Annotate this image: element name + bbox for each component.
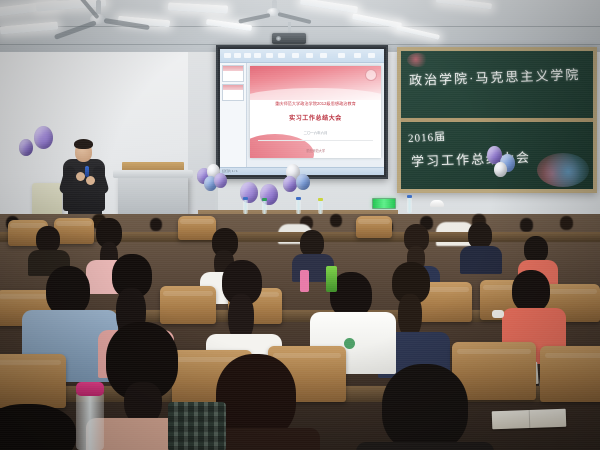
water-bottle [318, 201, 323, 214]
slide-counter: 幻灯片 1 / 1 [222, 169, 238, 173]
pink-item [300, 270, 309, 292]
powerpoint-ribbon[interactable] [220, 49, 384, 63]
bottle-cap [296, 197, 301, 200]
slide-thumbnail-panel[interactable] [220, 63, 247, 167]
balloon [296, 174, 310, 190]
slide-banner [250, 66, 381, 100]
slide-organization: 重庆师范大学 [254, 148, 377, 153]
slide-divider [258, 140, 373, 141]
slide-corner-decoration [250, 134, 314, 158]
bottle-cap [243, 197, 248, 200]
seat [540, 346, 600, 402]
blackboard-heading: 政治学院·马克思主义学院 [409, 64, 581, 89]
green-bottle [326, 266, 337, 292]
slide-thumbnail[interactable] [222, 65, 244, 82]
speaker-hand-right [86, 176, 95, 185]
powerpoint-window: 重庆师范大学政治学院2012级思想政治教育 实习工作总结大会 二〇一六年六月 重… [220, 49, 384, 175]
chalk-rose-decoration [407, 53, 429, 67]
seat [0, 354, 66, 408]
bottle-cap [407, 195, 412, 198]
ceiling-fan-blade [278, 12, 312, 24]
water-bottle [262, 201, 267, 214]
slide-title-line2: 实习工作总结大会 [254, 113, 377, 122]
bottle-cap [262, 198, 267, 201]
ceiling-fan-blade [238, 13, 270, 24]
bottle-cap-foreground [76, 382, 104, 396]
water-bottle [243, 200, 248, 214]
projection-screen: 重庆师范大学政治学院2012级思想政治教育 实习工作总结大会 二〇一六年六月 重… [216, 45, 388, 179]
podium-top-surface [113, 170, 193, 178]
speaker-hair [74, 139, 93, 149]
lecture-hall-photo: 重庆师范大学政治学院2012级思想政治教育 实习工作总结大会 二〇一六年六月 重… [0, 0, 600, 450]
wristwatch [492, 310, 504, 318]
slide-stage: 重庆师范大学政治学院2012级思想政治教育 实习工作总结大会 二〇一六年六月 重… [247, 63, 384, 167]
plaid-bag [168, 402, 226, 450]
speaker-hand-left [76, 172, 85, 181]
seat [356, 216, 392, 238]
ceiling-light [300, 0, 358, 13]
emergency-exit-sign [372, 198, 396, 209]
ceiling-light [436, 0, 492, 9]
balloon [214, 173, 227, 188]
balloon [19, 139, 33, 156]
slide-date: 二〇一六年六月 [254, 130, 377, 135]
ceiling-fan-blade [54, 20, 97, 40]
balloon [494, 162, 507, 177]
water-bottle-foreground [76, 392, 104, 450]
chalk-rose-decoration [537, 153, 589, 187]
seat [178, 216, 216, 240]
university-seal-icon [365, 69, 377, 81]
white-cap [430, 200, 444, 207]
presentation-slide: 重庆师范大学政治学院2012级思想政治教育 实习工作总结大会 二〇一六年六月 重… [250, 66, 381, 158]
open-book [492, 409, 567, 430]
blackboard-year: 2016届 [408, 128, 447, 146]
water-bottle [296, 200, 301, 214]
slide-title-line1: 重庆师范大学政治学院2012级思想政治教育 [254, 101, 377, 107]
ceiling-light [396, 25, 440, 40]
slide-thumbnail[interactable] [222, 84, 244, 101]
projector-lens [276, 36, 281, 41]
microphone [85, 166, 89, 177]
balloon [283, 176, 297, 192]
ceiling-light [0, 21, 58, 34]
ceiling-light [168, 2, 228, 13]
balloon [34, 126, 53, 149]
water-bottle [407, 198, 412, 213]
bottle-cap [318, 198, 323, 201]
blackboard-upper-panel: 政治学院·马克思主义学院 [401, 51, 593, 118]
audience-area [0, 214, 600, 450]
seat [160, 286, 216, 324]
seat [54, 218, 94, 244]
